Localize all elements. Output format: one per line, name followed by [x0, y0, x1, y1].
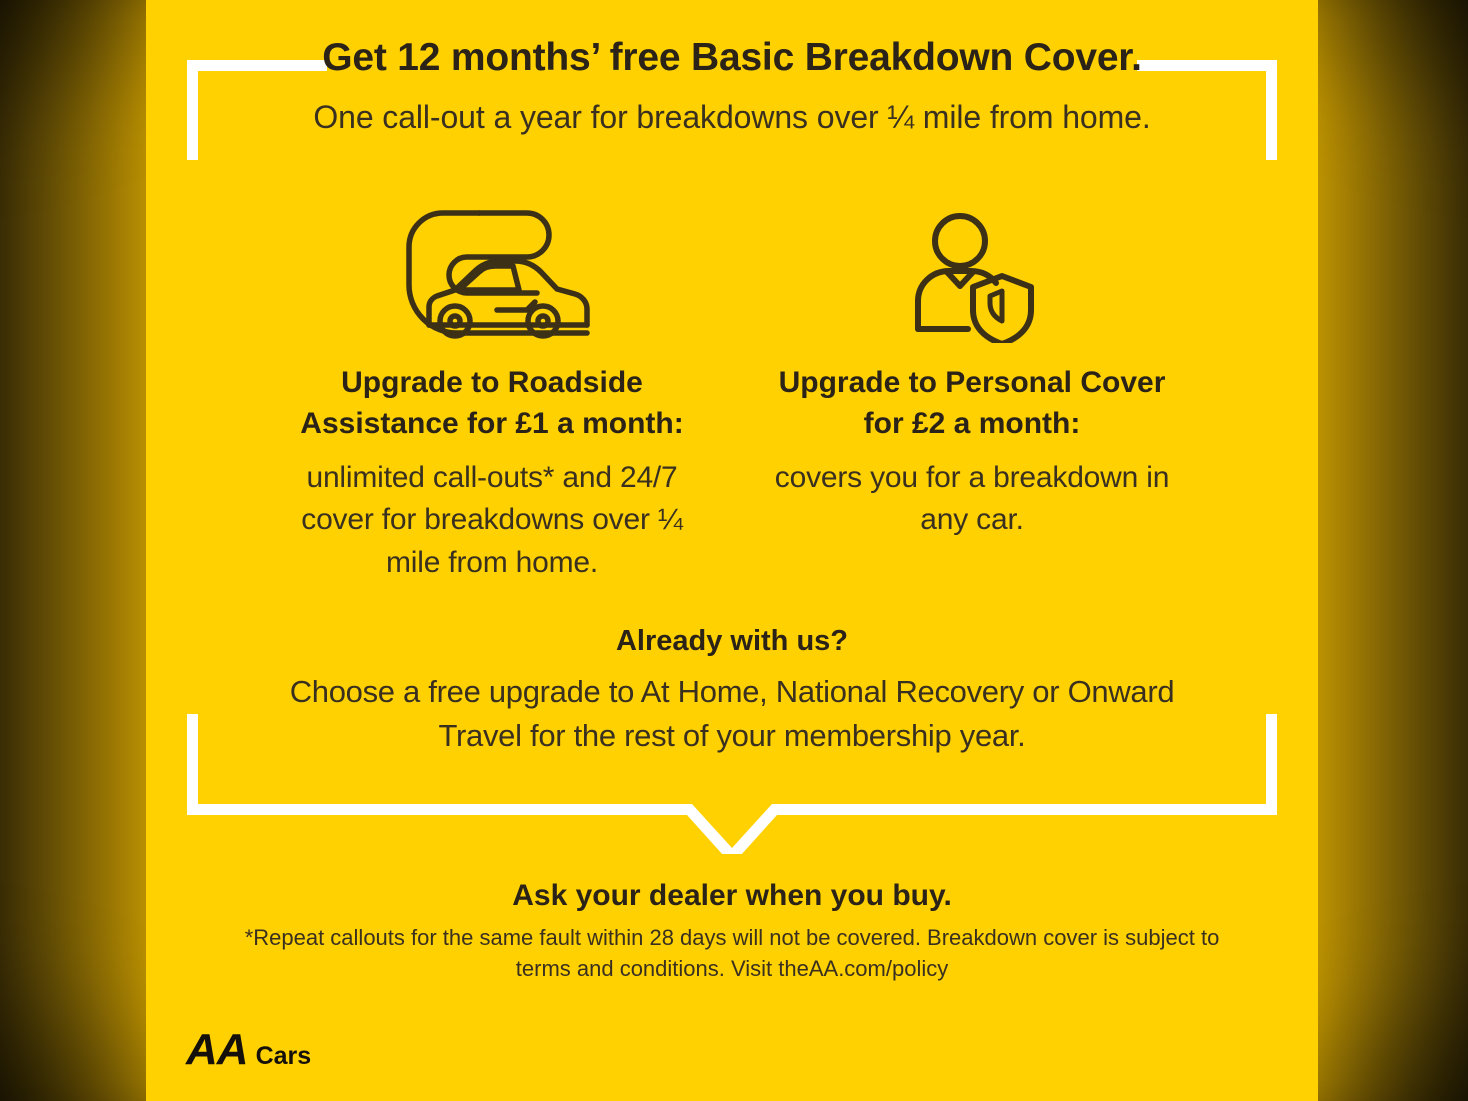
feature-title-roadside: Upgrade to Roadside Assistance for £1 a … [252, 362, 732, 445]
person-with-shield-icon [732, 200, 1212, 346]
feature-body-roadside: unlimited call-outs* and 24/7 cover for … [252, 457, 732, 585]
advert-stage: Get 12 months’ free Basic Breakdown Cove… [0, 0, 1468, 1101]
aa-logo-mark: AA [186, 1025, 248, 1075]
page-subtitle: One call-out a year for breakdowns over … [146, 99, 1318, 136]
aa-cars-logo: AA Cars [186, 1025, 311, 1075]
aa-logo-word: Cars [256, 1042, 312, 1071]
feature-column-roadside: Upgrade to Roadside Assistance for £1 a … [252, 200, 732, 585]
feature-column-personal: Upgrade to Personal Cover for £2 a month… [732, 200, 1212, 585]
already-with-us-body: Choose a free upgrade to At Home, Nation… [246, 670, 1218, 758]
car-on-winding-road-icon [252, 200, 732, 346]
call-to-action-text: Ask your dealer when you buy. [146, 879, 1318, 913]
page-title: Get 12 months’ free Basic Breakdown Cove… [146, 36, 1318, 80]
feature-title-personal: Upgrade to Personal Cover for £2 a month… [732, 362, 1212, 445]
feature-columns: Upgrade to Roadside Assistance for £1 a … [146, 200, 1318, 585]
already-with-us-title: Already with us? [146, 625, 1318, 658]
yellow-advert-panel: Get 12 months’ free Basic Breakdown Cove… [146, 0, 1318, 1101]
disclaimer-text: *Repeat callouts for the same fault with… [236, 922, 1228, 984]
feature-body-personal: covers you for a breakdown in any car. [732, 457, 1212, 542]
